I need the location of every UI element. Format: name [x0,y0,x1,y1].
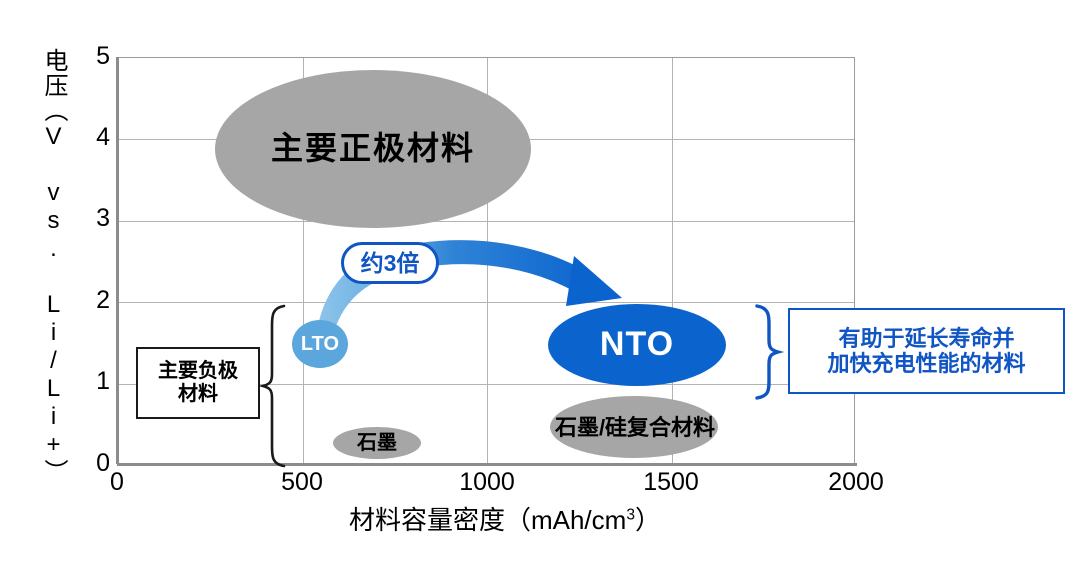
x-axis-title-tail: ） [635,505,661,535]
chart-root: 电压（V vs. Li/Li+） 5 4 3 2 1 0 0 500 1000 … [0,0,1080,584]
y-tick-2: 2 [76,288,110,313]
callout-benefit: 有助于延长寿命并 加快充电性能的材料 [788,308,1065,394]
y-axis-line [116,57,119,464]
bubble-graphite: 石墨 [333,427,421,459]
x-tick-1000: 1000 [427,470,547,495]
callout-multiplier: 约3倍 [341,242,439,284]
y-axis-title: 电压（V vs. Li/Li+） [26,48,66,484]
x-tick-500: 500 [242,470,362,495]
callout-anode-line2: 材料 [158,383,238,406]
y-tick-1: 1 [76,369,110,394]
callout-benefit-line1: 有助于延长寿命并 [827,326,1025,351]
x-axis-title: 材料容量密度（mAh/cm3） [0,500,1010,537]
y-tick-3: 3 [76,206,110,231]
y-tick-4: 4 [76,125,110,150]
x-tick-2000: 2000 [796,470,916,495]
bubble-nto: NTO [548,304,726,386]
gridline-y-2 [118,302,854,303]
y-tick-5: 5 [76,44,110,69]
x-tick-0: 0 [57,470,177,495]
bubble-main-cathode-materials: 主要正极材料 [215,70,531,228]
callout-benefit-line2: 加快充电性能的材料 [827,351,1025,376]
bubble-graphite-silicon-composite-label: 石墨/硅复合材料 [520,410,750,442]
x-tick-1500: 1500 [611,470,731,495]
callout-main-anode-materials: 主要负极 材料 [136,347,260,419]
gridline-y-3 [118,221,854,222]
x-axis-title-main: 材料容量密度（mAh/cm [349,505,626,535]
y-tick-labels: 5 4 3 2 1 0 [70,0,110,584]
bubble-lto: LTO [292,320,348,368]
x-axis-title-superscript: 3 [626,506,635,523]
x-axis-line [117,463,857,466]
callout-anode-line1: 主要负极 [158,360,238,383]
